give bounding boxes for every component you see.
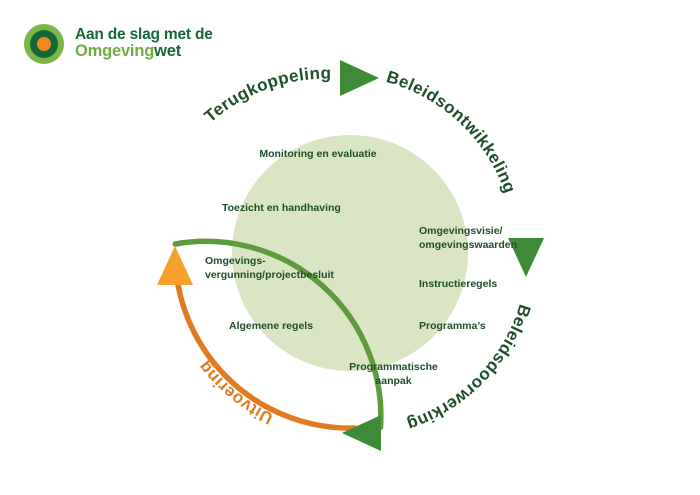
- cycle-item-programmatische-aanpak[interactable]: Programmatische aanpak: [326, 360, 461, 388]
- screenshot-root: Aan de slag met de Omgevingwet: [0, 0, 700, 495]
- cycle-item-instructieregels[interactable]: Instructieregels: [419, 277, 549, 291]
- cycle-item-omgevingsvergunning-projectbesluit[interactable]: Omgevings- vergunning/projectbesluit: [205, 254, 385, 282]
- arrow-top-icon: [340, 60, 379, 96]
- arrow-bottom-icon: [342, 415, 381, 451]
- cycle-item-programmas[interactable]: Programma’s: [419, 319, 539, 333]
- cycle-item-monitoring-en-evaluatie[interactable]: Monitoring en evaluatie: [243, 147, 393, 161]
- arc-label-terugkoppeling: Terugkoppeling: [201, 64, 332, 126]
- policy-cycle-diagram: Terugkoppeling Beleidsontwikkeling Belei…: [0, 0, 700, 495]
- arrow-left-icon: [157, 246, 193, 285]
- cycle-item-omgevingsvisie-omgevingswaarden[interactable]: Omgevingsvisie/ omgevingswaarden: [419, 224, 559, 252]
- cycle-item-algemene-regels[interactable]: Algemene regels: [229, 319, 379, 333]
- cycle-item-toezicht-en-handhaving[interactable]: Toezicht en handhaving: [222, 201, 382, 215]
- arc-label-uitvoering: Uitvoering: [194, 357, 275, 428]
